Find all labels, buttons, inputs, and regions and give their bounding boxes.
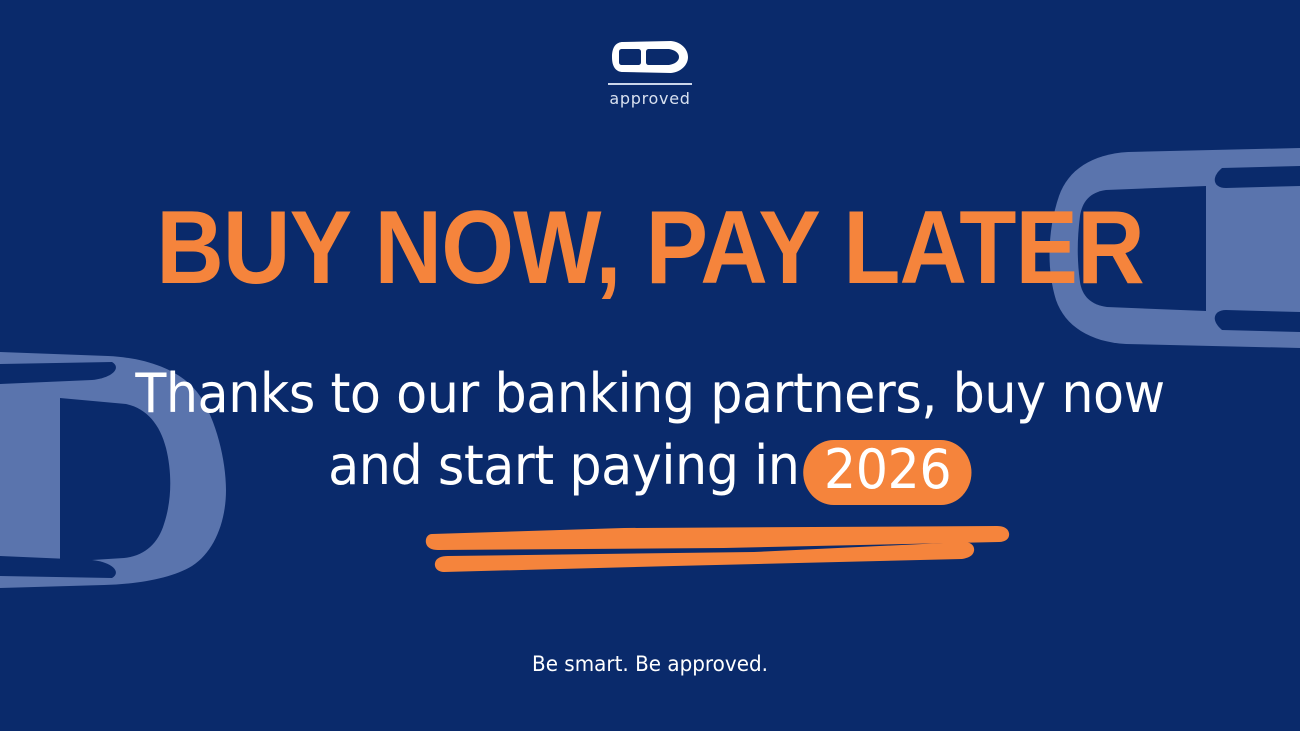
logo-divider <box>608 83 692 85</box>
tagline: Be smart. Be approved. <box>33 654 1268 675</box>
year-highlight-badge: 2026 <box>803 440 972 505</box>
subheading: Thanks to our banking partners, buy now … <box>39 358 1261 502</box>
promo-banner: approved BUY NOW, PAY LATER Thanks to ou… <box>0 0 1300 731</box>
subheading-line-2-prefix: and start paying in <box>328 434 799 497</box>
subheading-line-1: Thanks to our banking partners, buy now <box>39 358 1261 430</box>
brand-logo: approved <box>0 38 1300 107</box>
car-top-view-icon <box>611 38 689 76</box>
logo-wordmark: approved <box>609 91 690 107</box>
subheading-line-2: and start paying in2026 <box>39 430 1261 502</box>
page-title: BUY NOW, PAY LATER <box>65 196 1235 300</box>
hand-drawn-double-underline <box>424 512 1014 580</box>
